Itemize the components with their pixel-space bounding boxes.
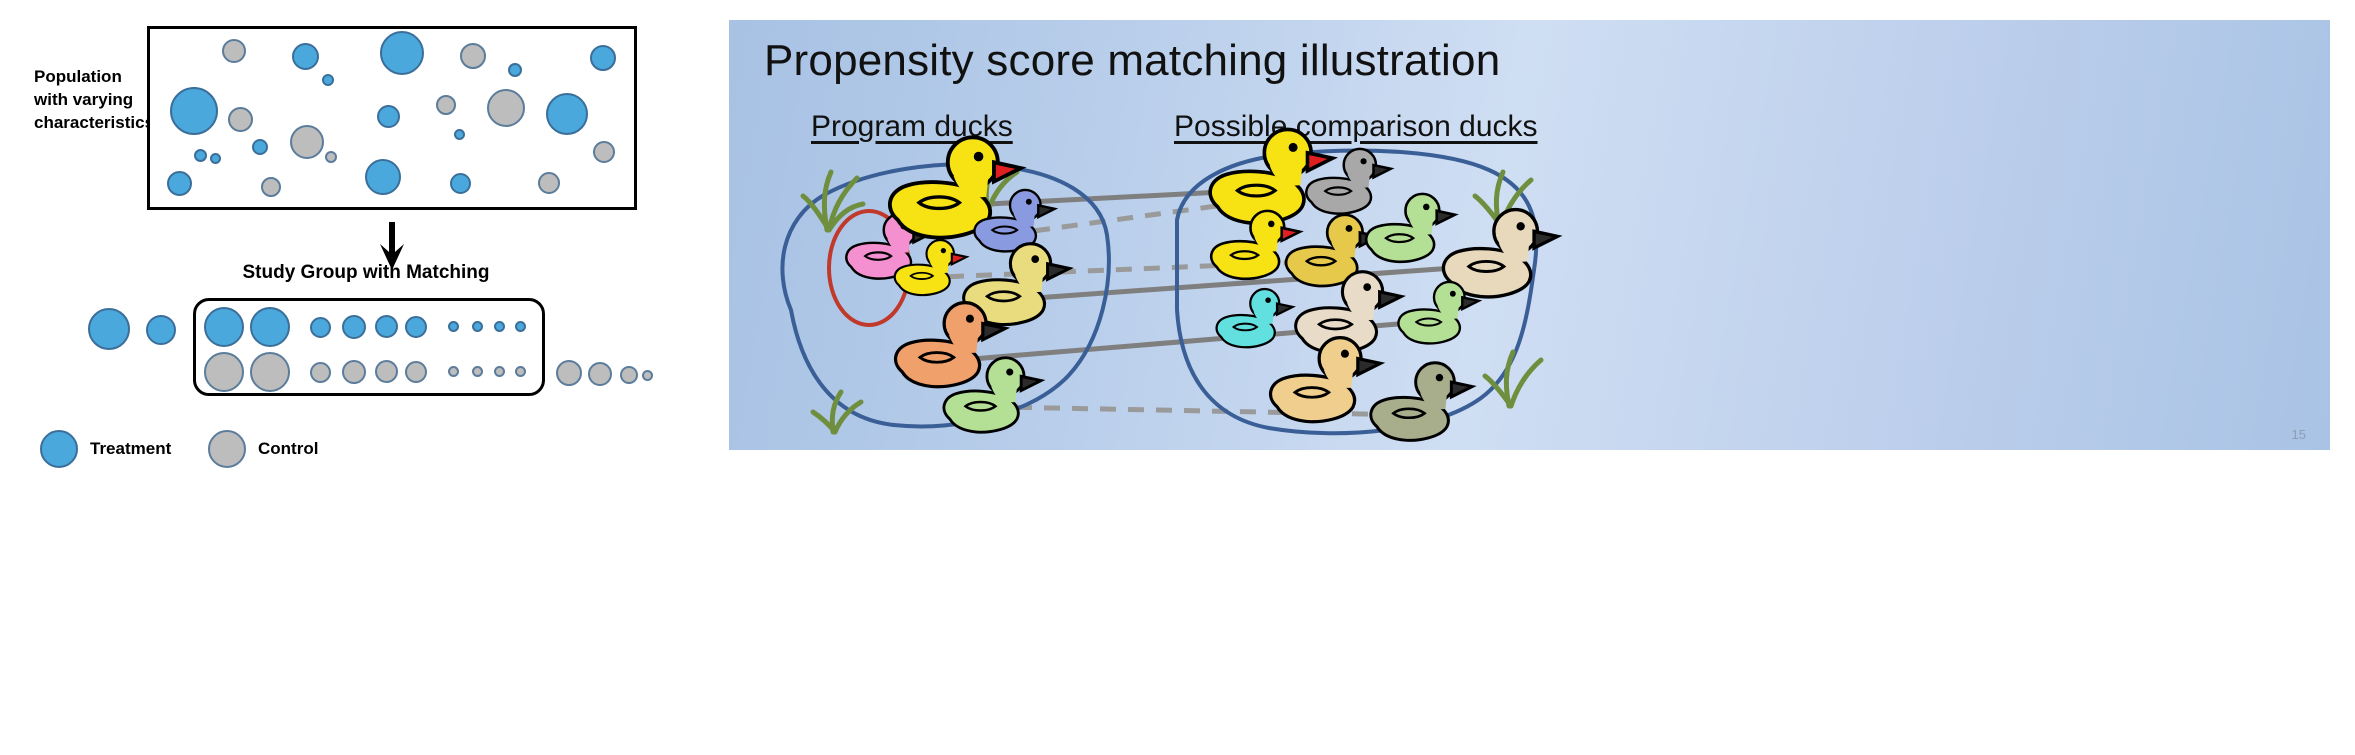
- population-dot-treatment-10: [377, 105, 400, 128]
- duck-eye: [1265, 297, 1271, 303]
- duck-beak: [952, 254, 967, 265]
- unmatched-right-dot-0: [556, 360, 582, 386]
- matched-treatment-dot-6: [448, 321, 459, 332]
- duck-eye: [1346, 225, 1353, 232]
- population-dot-control-25: [538, 172, 560, 194]
- population-dot-treatment-2: [292, 43, 319, 70]
- duck-eye: [966, 315, 974, 323]
- unmatched-right-dot-2: [620, 366, 638, 384]
- legend-label-control: Control: [258, 439, 318, 459]
- population-dot-treatment-6: [508, 63, 522, 77]
- duck-beak: [1437, 211, 1455, 224]
- duck-beak: [1307, 153, 1332, 171]
- presentation-slide: Propensity score matching illustration P…: [729, 20, 2330, 450]
- matched-control-dot-3: [342, 360, 366, 384]
- population-dot-control-12: [487, 89, 525, 127]
- population-dot-treatment-19: [454, 129, 465, 140]
- matched-treatment-dot-8: [494, 321, 505, 332]
- population-label-line-1: Population: [34, 66, 154, 89]
- population-matching-diagram: Population with varying characteristics …: [0, 0, 720, 755]
- matched-treatment-dot-4: [375, 315, 398, 338]
- duck-cyan-duck: [1217, 289, 1293, 347]
- unmatched-left-dot-0: [88, 308, 130, 350]
- duck-green-duck-a: [1366, 194, 1455, 262]
- population-dot-control-1: [222, 39, 246, 63]
- population-dot-treatment-13: [546, 93, 588, 135]
- page-number: 15: [2292, 427, 2306, 442]
- matched-treatment-dot-1: [250, 307, 290, 347]
- matched-treatment-dot-9: [515, 321, 526, 332]
- duck-beak: [1462, 297, 1478, 309]
- population-dot-control-9: [228, 107, 253, 132]
- population-dot-control-18: [325, 151, 337, 163]
- population-dot-control-5: [460, 43, 486, 69]
- duck-eye: [1289, 143, 1298, 152]
- matched-treatment-dot-0: [204, 307, 244, 347]
- population-label-line-3: characteristics: [34, 112, 154, 135]
- matched-treatment-dot-3: [342, 315, 366, 339]
- population-dot-control-11: [436, 95, 456, 115]
- population-dot-treatment-3: [322, 74, 334, 86]
- duck-beak: [1048, 264, 1070, 280]
- duck-eye: [1450, 291, 1456, 297]
- unmatched-left-dot-1: [146, 315, 176, 345]
- duck-eye: [941, 248, 946, 253]
- duck-eye: [1516, 222, 1524, 230]
- duck-olive-duck: [1371, 363, 1472, 441]
- matched-control-dot-1: [250, 352, 290, 392]
- unmatched-right-dot-3: [642, 370, 653, 381]
- legend: Treatment Control: [40, 430, 400, 476]
- duck-eye: [1006, 368, 1013, 375]
- duck-beak: [1021, 376, 1041, 390]
- matched-treatment-dot-7: [472, 321, 483, 332]
- duck-beak: [1282, 228, 1300, 241]
- legend-swatch-control: [208, 430, 246, 468]
- population-dot-treatment-17: [210, 153, 221, 164]
- duck-eye: [1268, 221, 1275, 228]
- duck-eye: [1360, 158, 1366, 164]
- population-dot-control-14: [290, 125, 324, 159]
- duck-eye: [1363, 283, 1371, 291]
- matched-treatment-dot-2: [310, 317, 331, 338]
- duck-eye: [1423, 204, 1430, 211]
- matched-control-dot-9: [515, 366, 526, 377]
- matched-control-dot-0: [204, 352, 244, 392]
- population-dot-treatment-24: [450, 173, 471, 194]
- slide-canvas: Population with varying characteristics …: [0, 0, 2355, 755]
- duck-eye: [1436, 374, 1443, 381]
- duck-beak: [1277, 304, 1293, 315]
- legend-item-control: Control: [208, 430, 318, 468]
- population-dot-control-22: [261, 177, 281, 197]
- study-group-title: Study Group with Matching: [186, 262, 546, 284]
- duck-sand-duck: [1271, 338, 1381, 422]
- pond-diagram: [729, 20, 2330, 450]
- population-dot-control-20: [593, 141, 615, 163]
- matched-control-dot-6: [448, 366, 459, 377]
- matched-control-dot-7: [472, 366, 483, 377]
- matched-control-dot-2: [310, 362, 331, 383]
- population-dot-treatment-21: [167, 171, 192, 196]
- duck-yellow-duck-a: [1210, 129, 1333, 223]
- legend-swatch-treatment: [40, 430, 78, 468]
- population-box: [147, 26, 637, 210]
- duck-eye: [1341, 350, 1349, 358]
- duck-eye: [1026, 199, 1032, 205]
- population-dot-treatment-15: [252, 139, 268, 155]
- matched-control-dot-8: [494, 366, 505, 377]
- matched-treatment-dot-5: [405, 316, 427, 338]
- duck-beak: [1451, 382, 1472, 397]
- population-dot-treatment-7: [590, 45, 616, 71]
- duck-beak: [1038, 205, 1054, 217]
- duck-eye: [974, 152, 984, 162]
- study-group-box: [193, 298, 545, 396]
- legend-label-treatment: Treatment: [90, 439, 171, 459]
- duck-beak: [1373, 165, 1390, 177]
- population-dot-treatment-8: [170, 87, 218, 135]
- unmatched-right-dot-1: [588, 362, 612, 386]
- population-dot-treatment-23: [365, 159, 401, 195]
- population-label-line-2: with varying: [34, 89, 154, 112]
- matched-control-dot-5: [405, 361, 427, 383]
- legend-item-treatment: Treatment: [40, 430, 171, 468]
- duck-eye: [1031, 255, 1039, 263]
- duck-beak: [1380, 292, 1402, 308]
- population-label: Population with varying characteristics: [34, 66, 154, 135]
- duck-tan-duck-a: [1443, 210, 1557, 297]
- duck-beak: [1534, 231, 1557, 248]
- population-dot-treatment-4: [380, 31, 424, 75]
- matched-control-dot-4: [375, 360, 398, 383]
- program-ducks-group: [846, 137, 1069, 432]
- duck-beak: [1358, 359, 1381, 375]
- population-dot-treatment-16: [194, 149, 207, 162]
